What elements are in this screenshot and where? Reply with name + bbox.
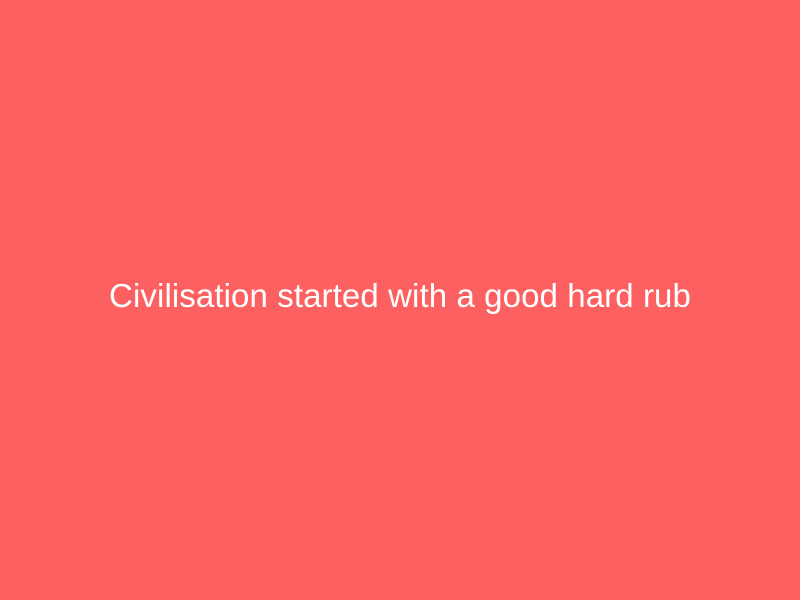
quote-card: Civilisation started with a good hard ru… — [0, 0, 800, 600]
quote-text: Civilisation started with a good hard ru… — [0, 275, 800, 316]
